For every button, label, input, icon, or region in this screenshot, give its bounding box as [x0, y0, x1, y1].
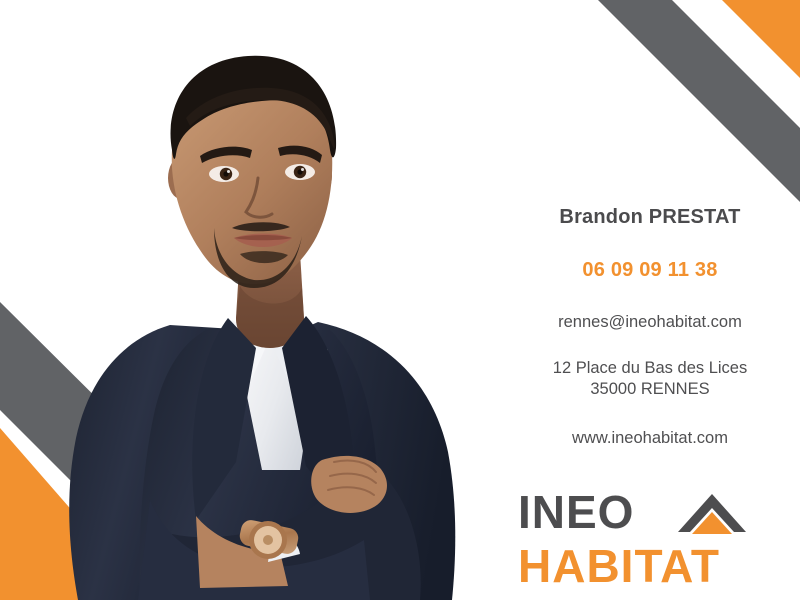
- contact-phone[interactable]: 06 09 09 11 38: [500, 259, 800, 282]
- logo-word-ineo: INEO: [518, 486, 634, 538]
- logo-artwork: INEO HABITAT: [518, 486, 786, 592]
- portrait-illustration: [0, 0, 520, 600]
- contact-website[interactable]: www.ineohabitat.com: [500, 429, 800, 448]
- head: [168, 56, 336, 288]
- address-line-1: 12 Place du Bas des Lices: [500, 358, 800, 379]
- ineo-habitat-logo: INEO HABITAT: [518, 486, 786, 592]
- portrait-photo: [0, 0, 520, 600]
- contact-name: Brandon PRESTAT: [500, 206, 800, 229]
- business-card: Brandon PRESTAT 06 09 09 11 38 rennes@in…: [0, 0, 800, 600]
- address-line-2: 35000 RENNES: [500, 379, 800, 400]
- contact-email[interactable]: rennes@ineohabitat.com: [500, 313, 800, 332]
- logo-word-habitat: HABITAT: [518, 540, 720, 592]
- contact-address: 12 Place du Bas des Lices 35000 RENNES: [500, 358, 800, 400]
- contact-info-panel: Brandon PRESTAT 06 09 09 11 38 rennes@in…: [500, 0, 800, 600]
- hand: [311, 456, 387, 513]
